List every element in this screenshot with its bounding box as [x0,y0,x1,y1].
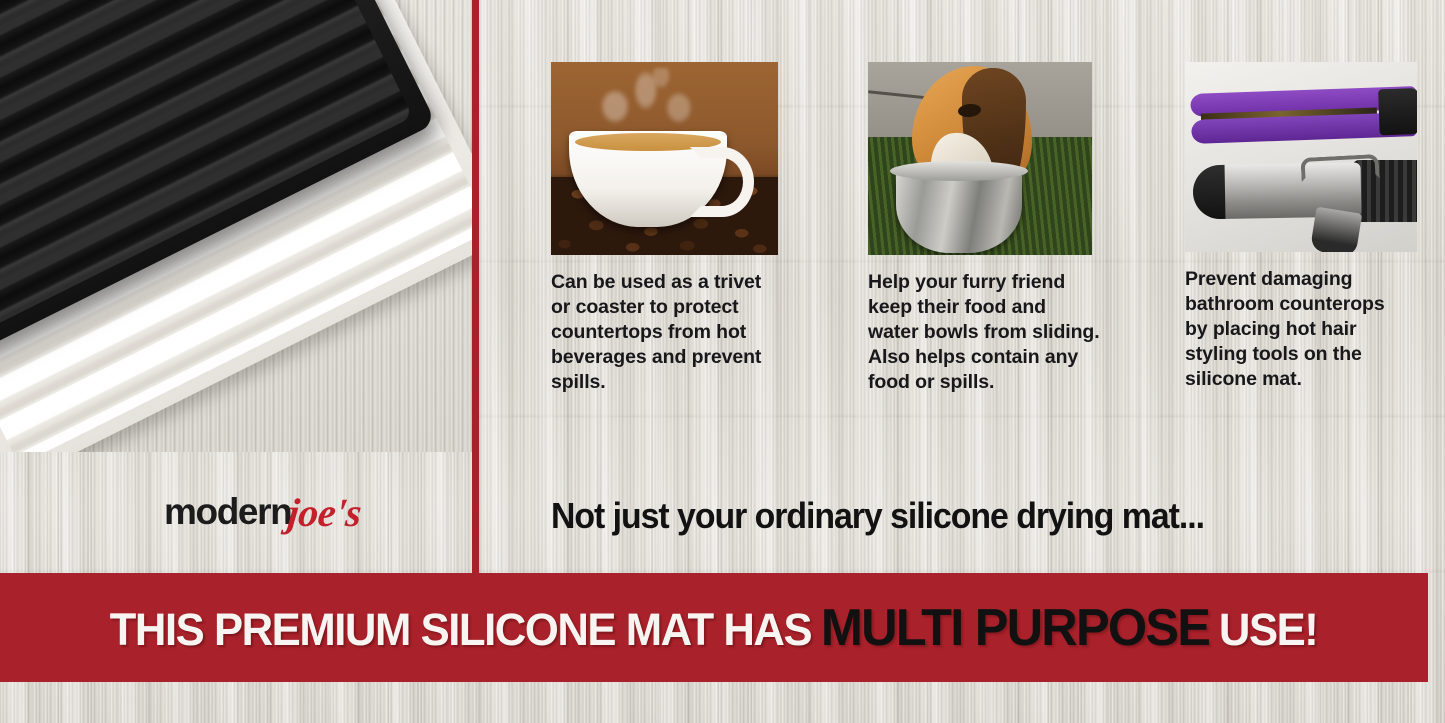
coffee-cup-photo [551,62,778,255]
banner-trail-text: USE! [1219,604,1317,656]
metal-dog-bowl [896,167,1022,253]
tagline: Not just your ordinary silicone drying m… [551,495,1204,537]
brand-name-accent: joe's [286,489,364,536]
brand-name-primary: modern [164,491,291,533]
product-infographic: Can be used as a trivet or coaster to pr… [0,0,1445,723]
hero-product-photo [0,0,472,452]
banner-text: THIS PREMIUM SILICONE MAT HAS MULTI PURP… [110,598,1318,658]
flat-iron [1190,86,1417,146]
feature-column-hair-tools: Prevent damaging bathroom counterops by … [1185,62,1428,395]
feature-column-trivet: Can be used as a trivet or coaster to pr… [551,62,794,395]
steam-wisps [593,68,703,132]
vertical-red-divider [472,0,479,573]
feature-caption-trivet: Can be used as a trivet or coaster to pr… [551,270,794,395]
brand-logo: modern joe's [164,487,361,534]
banner-lead-text: THIS PREMIUM SILICONE MAT HAS [110,604,811,656]
feature-caption-pet-bowl: Help your furry friend keep their food a… [868,270,1111,395]
cup-handle [690,147,754,217]
banner-emphasis-text: MULTI PURPOSE [821,598,1209,658]
feature-caption-hair-tools: Prevent damaging bathroom counterops by … [1185,267,1428,392]
curling-iron-cap [1193,165,1226,220]
feature-column-pet-bowl: Help your furry friend keep their food a… [868,62,1111,395]
bottom-banner: THIS PREMIUM SILICONE MAT HAS MULTI PURP… [0,573,1428,682]
dog-bowl-photo [868,62,1092,255]
curling-iron-lever [1310,207,1362,252]
flat-iron-tip [1378,88,1417,135]
feature-columns: Can be used as a trivet or coaster to pr… [551,62,1428,395]
bowl-rim [890,161,1028,181]
hair-tools-photo [1185,62,1417,252]
curling-iron-clamp [1300,154,1379,182]
